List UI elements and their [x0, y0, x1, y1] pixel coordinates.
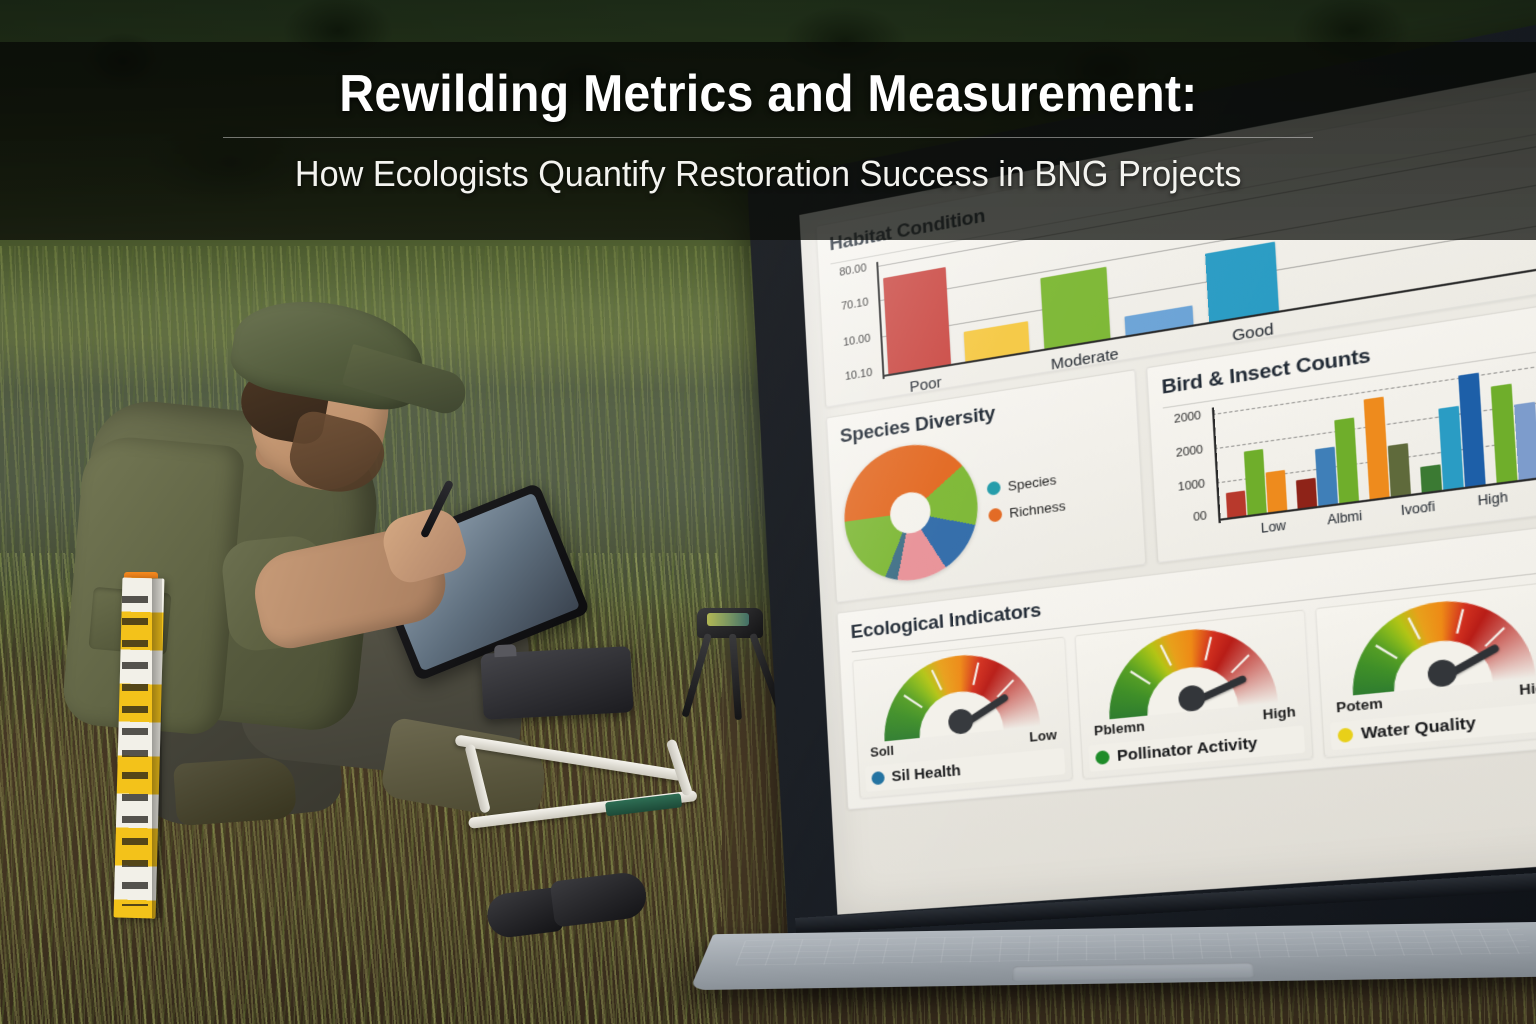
x-tick-label: Low — [1260, 518, 1286, 536]
legend-swatch — [988, 507, 1002, 522]
title-divider — [223, 137, 1313, 138]
bird-insect-bar[interactable] — [1334, 418, 1359, 503]
gauge-tick — [972, 662, 979, 685]
gauge-tick — [1407, 617, 1420, 640]
binocular-barrel — [550, 870, 649, 927]
gauge-tick — [931, 670, 942, 691]
laptop-keyboard[interactable] — [735, 929, 1533, 966]
quadrat-green-segment — [605, 793, 682, 816]
gauge-tick — [903, 695, 922, 709]
x-tick-label: Moderate — [1050, 345, 1119, 374]
laptop-base — [690, 922, 1536, 990]
gauge-tick — [1204, 637, 1212, 661]
bar-group — [1491, 380, 1536, 483]
habitat-y-axis: 80.00 70.10 10.00 10.10 — [831, 265, 881, 385]
staff-shadow-edge — [152, 578, 162, 918]
bird-insect-bar[interactable] — [1266, 470, 1288, 513]
bird-insect-bar[interactable] — [1491, 383, 1518, 483]
gauge-card: PblemnHighPollinator Activity — [1075, 609, 1314, 778]
legend-swatch — [987, 480, 1001, 495]
x-tick-label: Good — [1232, 320, 1275, 345]
gauge-tick — [1160, 644, 1172, 666]
gauge-max-label: Low — [1029, 727, 1057, 745]
gauge-legend-label: Water Quality — [1361, 714, 1477, 743]
bird-insect-bar[interactable] — [1514, 401, 1536, 480]
gauge-min-label: Soll — [870, 743, 895, 760]
gauge-tick — [1130, 671, 1151, 685]
camera-case — [480, 646, 633, 720]
bird-y-axis: 2000 2000 1000 00 — [1161, 410, 1216, 527]
y-tick: 2000 — [1176, 443, 1204, 460]
bird-insect-bar[interactable] — [1315, 447, 1338, 506]
y-tick: 2000 — [1174, 409, 1202, 426]
gauge-legend-label: Sil Health — [891, 762, 961, 786]
legend-label: Species — [1007, 471, 1056, 493]
habitat-bar[interactable] — [1205, 242, 1279, 322]
y-tick: 10.00 — [843, 332, 871, 349]
gauge-card: SollLowSil Health — [852, 636, 1073, 798]
laptop-trackpad[interactable] — [1012, 963, 1255, 982]
habitat-bar[interactable] — [1040, 267, 1110, 349]
species-legend: Species Richness — [987, 470, 1066, 523]
y-tick: 00 — [1193, 510, 1207, 525]
gauge-max-label: High — [1262, 703, 1296, 722]
y-tick: 10.10 — [845, 367, 873, 383]
bird-insect-bar[interactable] — [1364, 396, 1390, 499]
legend-swatch — [871, 771, 885, 785]
species-pie-chart[interactable] — [841, 436, 981, 588]
habitat-bar[interactable] — [964, 322, 1030, 362]
bar-group — [1293, 418, 1359, 509]
x-tick-label: High — [1477, 489, 1508, 508]
gauge-min-label: Pblemn — [1094, 718, 1146, 739]
gauge-max-label: High — [1519, 678, 1536, 698]
y-tick: 1000 — [1178, 478, 1206, 494]
species-diversity-card: Species Diversity Species — [826, 369, 1146, 603]
quadrat-bar — [454, 734, 683, 781]
title-overlay: Rewilding Metrics and Measurement: How E… — [0, 42, 1536, 240]
y-tick: 80.00 — [839, 262, 867, 279]
gauge-min-label: Potem — [1336, 695, 1383, 716]
legend-swatch — [1095, 750, 1110, 765]
legend-label: Richness — [1009, 497, 1066, 520]
poster-canvas: Habitat Condition 80.00 70.10 10.00 — [0, 0, 1536, 1024]
bird-insect-bar[interactable] — [1226, 490, 1247, 518]
page-subtitle: How Ecologists Quantify Restoration Succ… — [295, 153, 1242, 195]
gauge-tick — [1456, 609, 1464, 634]
gauge-tick — [1231, 654, 1250, 673]
bird-insect-bar[interactable] — [1388, 443, 1411, 497]
gauge-tick — [1375, 645, 1398, 660]
gauge-legend-label: Pollinator Activity — [1117, 734, 1258, 765]
tripod-leg — [681, 633, 711, 718]
laptop: Habitat Condition 80.00 70.10 10.00 — [716, 176, 1536, 1024]
page-title: Rewilding Metrics and Measurement: — [339, 64, 1197, 124]
bird-insect-bar[interactable] — [1244, 449, 1267, 515]
x-tick-label: Ivoofi — [1400, 499, 1435, 519]
legend-swatch — [1337, 727, 1353, 743]
x-tick-label: Albmi — [1327, 508, 1363, 528]
y-tick: 70.10 — [841, 296, 869, 313]
legend-item-species: Species — [987, 470, 1065, 496]
quadrat-frame — [453, 738, 706, 839]
bar-group — [1364, 393, 1411, 499]
bar-group — [1415, 373, 1486, 493]
staff-graduations — [122, 596, 148, 906]
bar-group — [1224, 446, 1288, 517]
habitat-bar[interactable] — [883, 267, 951, 374]
gauge-card: PotemHighWater Quality — [1315, 580, 1536, 758]
bird-insect-bar[interactable] — [1296, 478, 1317, 509]
x-tick-label: Poor — [909, 374, 942, 396]
quadrat-bar — [464, 743, 491, 813]
bird-insect-bar[interactable] — [1420, 464, 1442, 493]
legend-item-richness: Richness — [988, 497, 1066, 523]
back-boot — [173, 756, 297, 826]
